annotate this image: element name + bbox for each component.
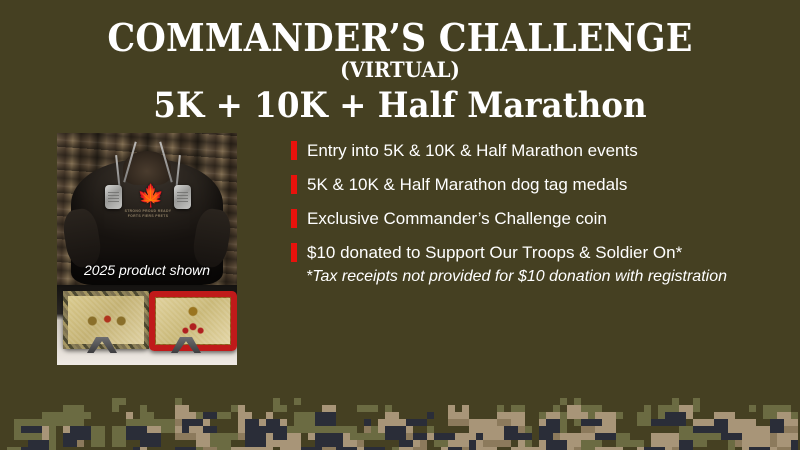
list-item: $10 donated to Support Our Troops & Sold… [291,235,791,269]
dog-tag-medal-right [174,185,191,209]
dog-tag-medal-left [105,185,122,209]
page-title: COMMANDER’S CHALLENGE [32,18,768,58]
title-block: COMMANDER’S CHALLENGE (VIRTUAL) 5K + 10K… [0,18,800,126]
product-image-caption: 2025 product shown [57,262,237,278]
commanders-challenge-poster: COMMANDER’S CHALLENGE (VIRTUAL) 5K + 10K… [0,0,800,450]
bullet-marker-icon [291,175,297,194]
shirt-print-line-2: FORTS FIERS PRETS [109,214,187,219]
feature-text: Exclusive Commander’s Challenge coin [307,209,607,228]
coins-photo [57,285,237,365]
feature-text: 5K & 10K & Half Marathon dog tag medals [307,175,627,194]
maple-leaf-icon: 🍁 [137,185,159,207]
shirt-photo: 🍁 STRONG PROUD READY FORTS FIERS PRETS 2… [57,133,237,285]
list-item: Exclusive Commander’s Challenge coin [291,201,791,235]
bullet-marker-icon [291,209,297,228]
camouflage-pattern [0,398,798,450]
shirt-print-text: STRONG PROUD READY FORTS FIERS PRETS [109,209,187,219]
camouflage-band [0,398,800,450]
page-subtitle: (VIRTUAL) [24,58,776,82]
list-item: 5K & 10K & Half Marathon dog tag medals [291,167,791,201]
list-item: Entry into 5K & 10K & Half Marathon even… [291,133,791,167]
features-list: Entry into 5K & 10K & Half Marathon even… [291,133,791,269]
product-image-panel: 🍁 STRONG PROUD READY FORTS FIERS PRETS 2… [57,133,237,365]
event-distances-title: 5K + 10K + Half Marathon [28,86,772,126]
feature-text: Entry into 5K & 10K & Half Marathon even… [307,141,638,160]
footnote-text: *Tax receipts not provided for $10 donat… [306,268,727,286]
feature-text: $10 donated to Support Our Troops & Sold… [307,243,682,262]
bullet-marker-icon [291,141,297,160]
bullet-marker-icon [291,243,297,262]
